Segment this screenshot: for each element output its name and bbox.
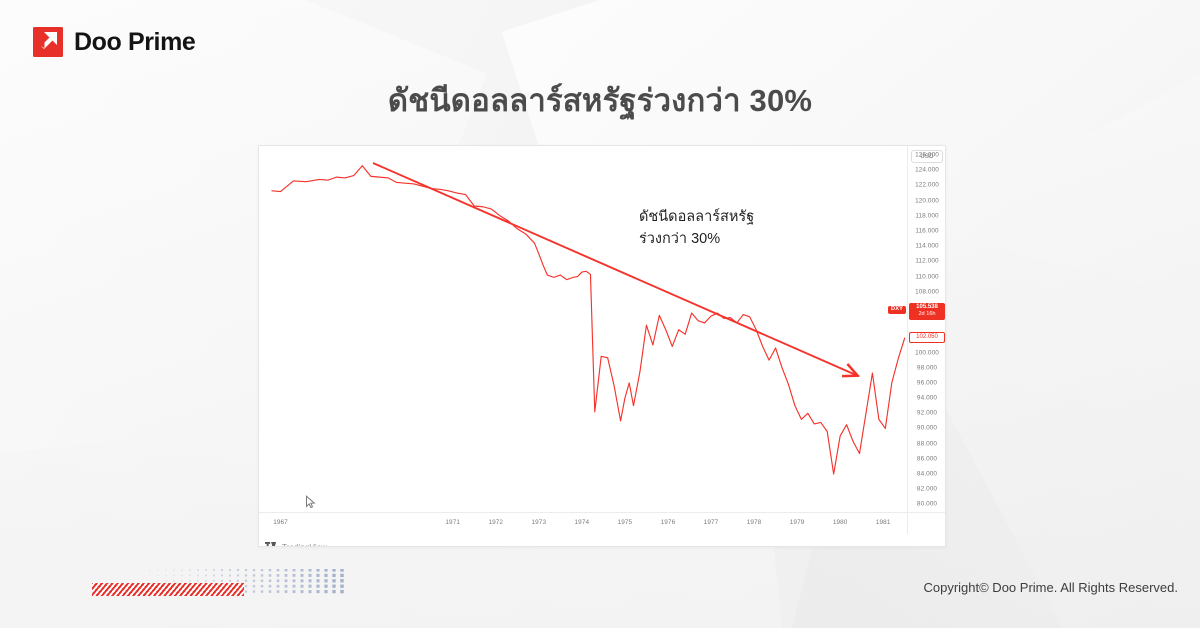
price-tick: 98.000 [908,364,946,371]
page-title: ดัชนีดอลลาร์สหรัฐร่วงกว่า 30% [0,75,1200,125]
chart-card: ดัชนีดอลลาร์สหรัฐ ร่วงกว่า 30% USD 126.0… [258,145,946,547]
copyright-text: Copyright© Doo Prime. All Rights Reserve… [923,580,1178,595]
price-tick: 114.000 [908,243,946,250]
price-tick: 126.000 [908,152,946,159]
last-price-badge: 105.538 2d 16h [909,303,945,319]
price-tick: 124.000 [908,167,946,174]
chart-annotation-line2: ร่วงกว่า 30% [639,228,829,250]
time-tick: 1977 [704,519,719,526]
price-tick: 120.000 [908,197,946,204]
price-tick: 82.000 [908,486,946,493]
time-tick: 1981 [876,519,891,526]
chart-plot-area [259,146,909,512]
price-tick: 112.000 [908,258,946,265]
time-tick: 1976 [661,519,676,526]
tradingview-attribution: TradingView [265,538,327,547]
price-tick: 88.000 [908,440,946,447]
price-tick: 122.000 [908,182,946,189]
price-tick: 108.000 [908,288,946,295]
doo-prime-mark-icon [33,27,63,57]
price-line-chart [259,146,909,512]
current-level-badge: 102.050 [909,332,945,343]
tradingview-label: TradingView [282,543,327,548]
price-tick: 84.000 [908,471,946,478]
time-tick: 1975 [618,519,633,526]
brand-logo: Doo Prime [33,27,195,57]
symbol-tag: DXY [888,306,906,314]
time-tick: 1979 [790,519,805,526]
price-tick: 92.000 [908,410,946,417]
price-tick: 80.000 [908,501,946,508]
price-tick: 118.000 [908,212,946,219]
price-tick: 96.000 [908,379,946,386]
price-tick: 116.000 [908,228,946,235]
tradingview-icon [265,538,278,547]
bar-countdown: 2d 16h [909,311,945,317]
price-tick: 110.000 [908,273,946,280]
scale-corner [907,512,945,534]
price-tick: 90.000 [908,425,946,432]
time-scale[interactable]: 1967197119721973197419751976197719781979… [259,512,909,534]
time-tick: 1974 [575,519,590,526]
time-tick: 1973 [531,519,546,526]
time-tick: 1967 [273,519,288,526]
chart-annotation: ดัชนีดอลลาร์สหรัฐ ร่วงกว่า 30% [639,206,829,251]
price-scale[interactable]: USD 126.000124.000122.000120.000118.0001… [907,146,945,512]
time-tick: 1980 [833,519,848,526]
brand-name: Doo Prime [74,28,195,57]
time-tick: 1978 [747,519,762,526]
price-tick: 100.000 [908,349,946,356]
last-price-value: 105.538 [909,304,945,311]
stripe-bar-decoration [92,583,244,596]
time-tick: 1972 [488,519,503,526]
time-tick: 1971 [445,519,460,526]
price-tick: 94.000 [908,395,946,402]
chart-annotation-line1: ดัชนีดอลลาร์สหรัฐ [639,206,829,228]
price-tick: 86.000 [908,455,946,462]
crosshair-cursor-icon [303,494,319,510]
